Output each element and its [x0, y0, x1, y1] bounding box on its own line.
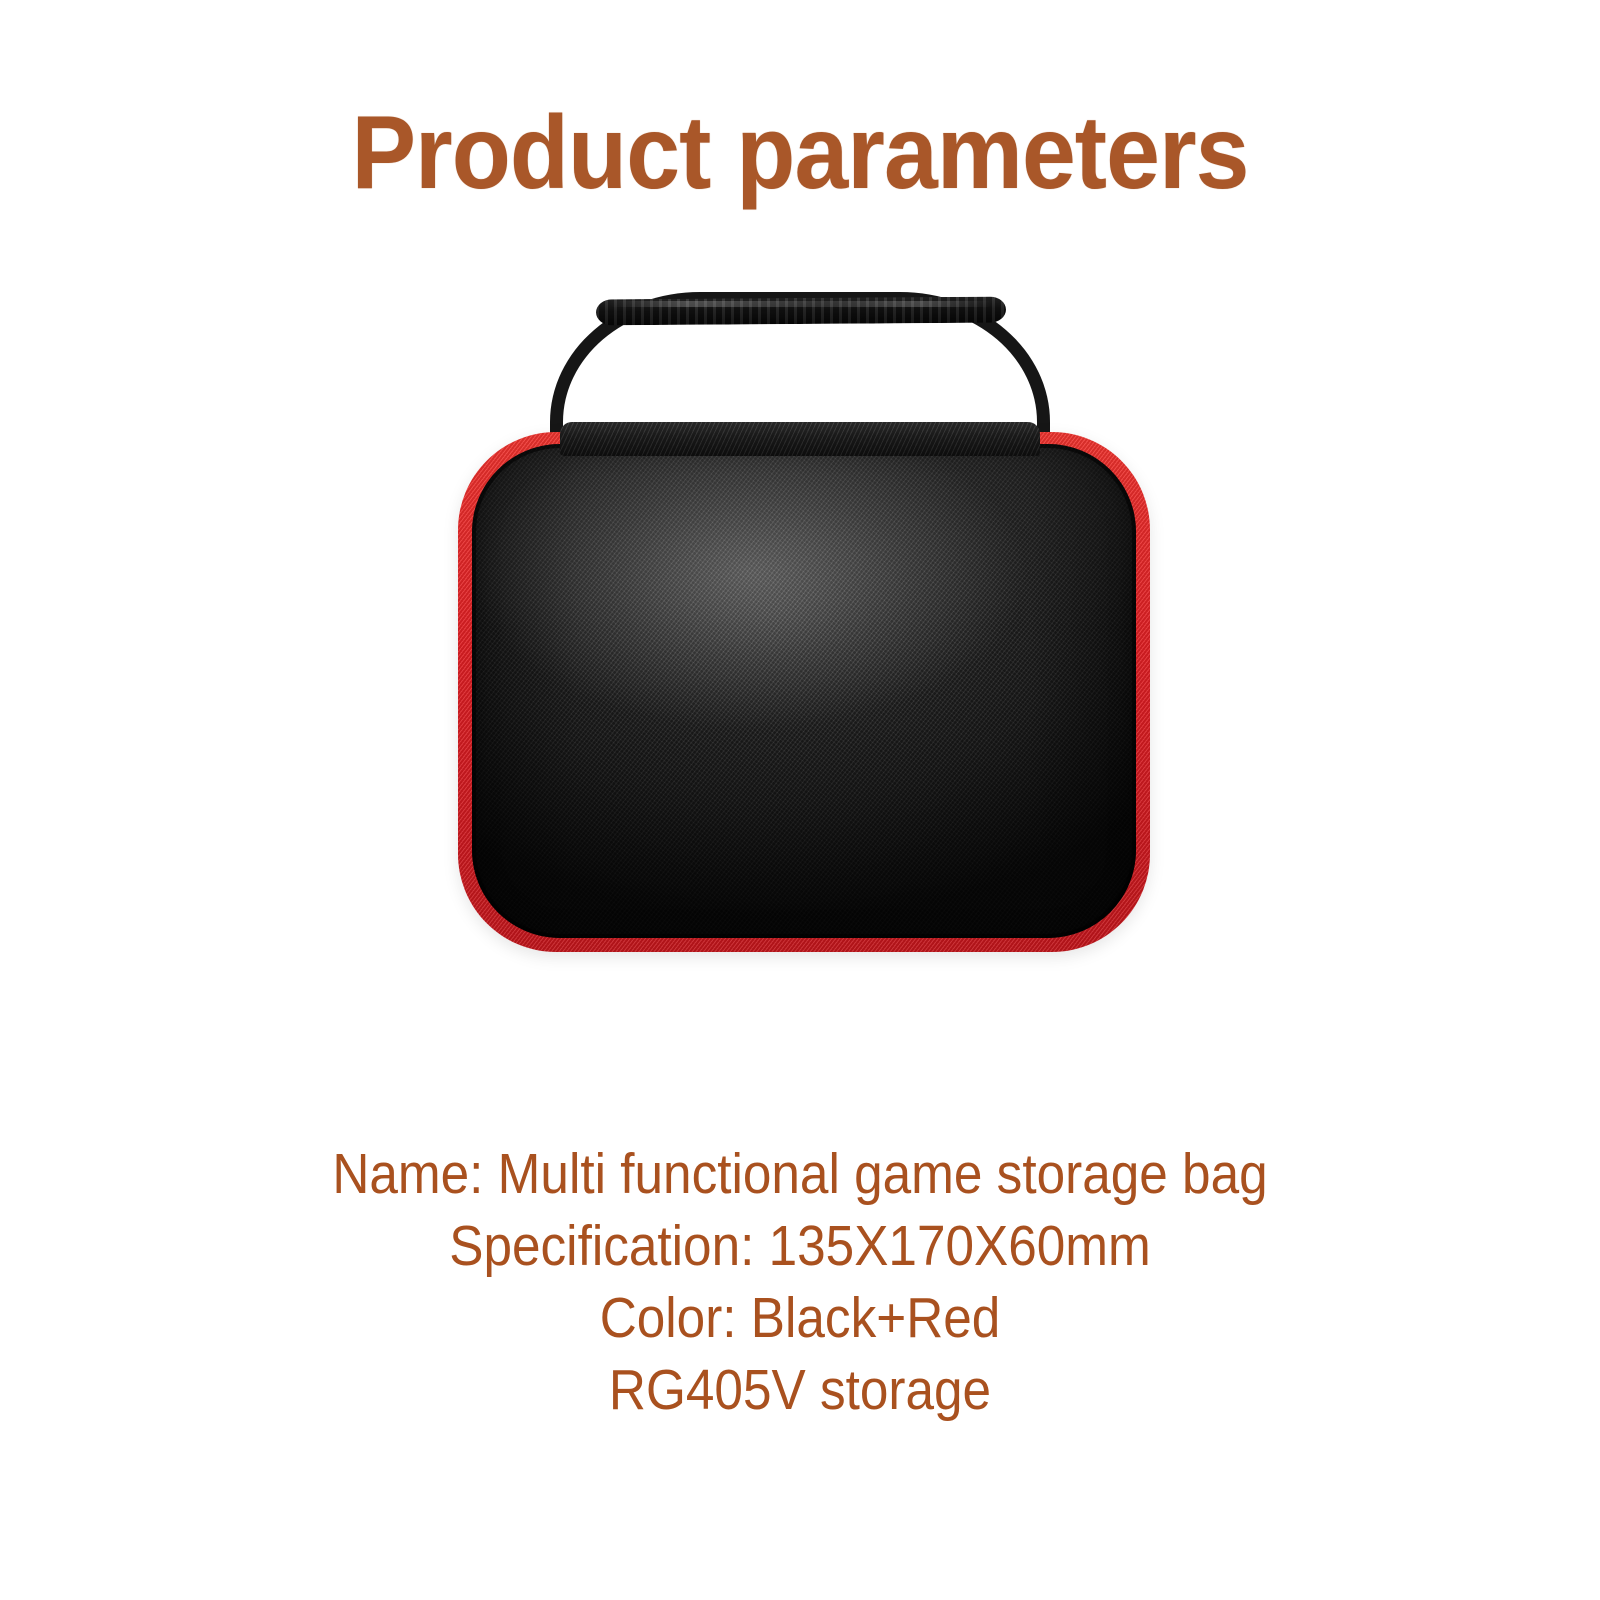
product-image [400, 270, 1200, 1010]
spec-line-name: Name: Multi functional game storage bag [80, 1138, 1520, 1210]
spec-line-model: RG405V storage [80, 1354, 1520, 1426]
page-title: Product parameters [56, 96, 1544, 210]
spec-line-specification: Specification: 135X170X60mm [80, 1210, 1520, 1282]
case-black-shell [472, 444, 1136, 938]
product-parameters-page: Product parameters Name: Multi functiona… [0, 0, 1600, 1600]
case-top-band [560, 422, 1040, 456]
spec-list: Name: Multi functional game storage bag … [0, 1138, 1600, 1426]
spec-line-color: Color: Black+Red [80, 1282, 1520, 1354]
carry-handle-grip-highlight [610, 301, 992, 307]
